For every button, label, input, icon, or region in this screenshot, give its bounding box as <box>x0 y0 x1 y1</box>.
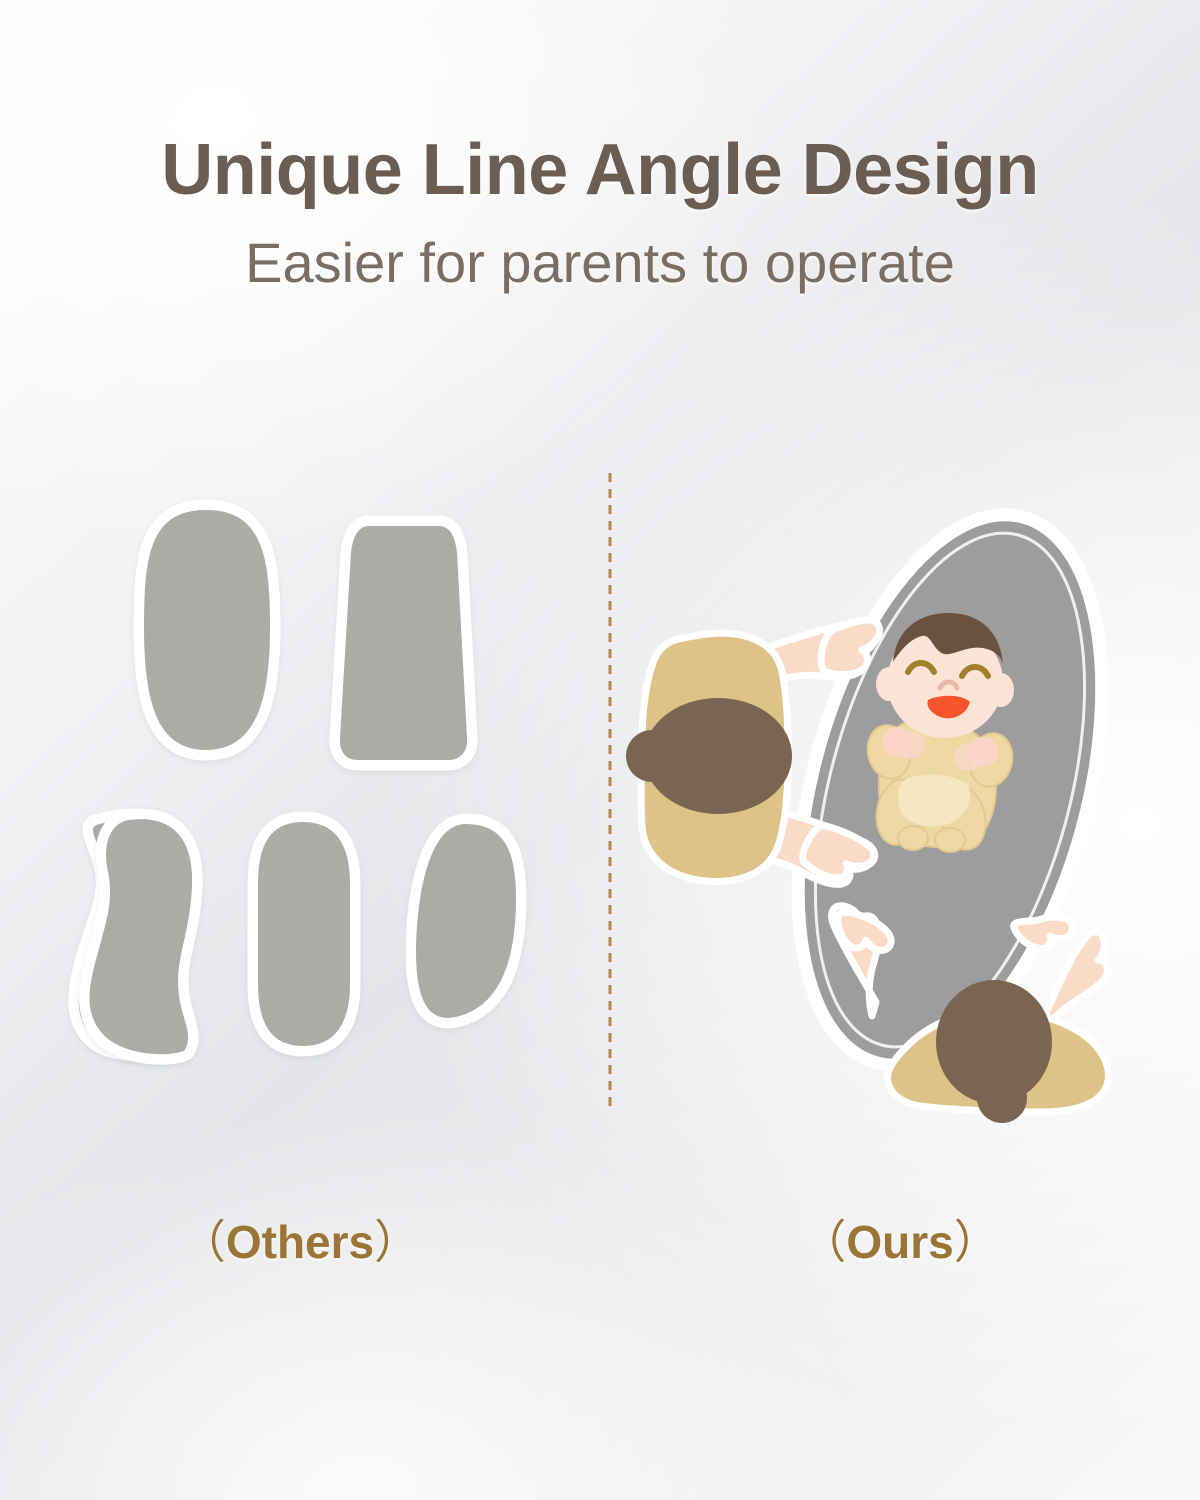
shape-egg-wide <box>414 822 518 1020</box>
caption-ours-open-paren: （ <box>800 1216 846 1268</box>
shape-oval-egg <box>142 508 272 752</box>
parent-upper-left-hair-bun <box>626 730 678 782</box>
baby-shoulder-highlight-right <box>954 743 982 771</box>
caption-others-open-paren: （ <box>180 1216 226 1268</box>
caption-others-label: Others <box>226 1216 374 1268</box>
shape-peanut-outer <box>87 817 194 1056</box>
baby-shoulder-highlight-left <box>897 731 925 759</box>
others-shapes-group <box>77 508 518 1056</box>
shape-rounded-trapezoid <box>338 524 469 762</box>
caption-ours: （Ours） <box>600 1206 1200 1272</box>
page-root: Unique Line Angle Design Easier for pare… <box>0 0 1200 1500</box>
parent-lower-right-hair-bun <box>977 1073 1027 1123</box>
ours-illustration-group <box>626 487 1150 1123</box>
caption-others: （Others） <box>0 1206 600 1272</box>
caption-others-close-paren: ） <box>374 1216 420 1268</box>
parent-hand-right-second <box>1014 917 1073 948</box>
caption-ours-close-paren: ） <box>954 1216 1000 1268</box>
shape-capsule <box>256 820 352 1048</box>
illustration-stage <box>0 0 1200 1500</box>
caption-ours-label: Ours <box>846 1216 953 1268</box>
